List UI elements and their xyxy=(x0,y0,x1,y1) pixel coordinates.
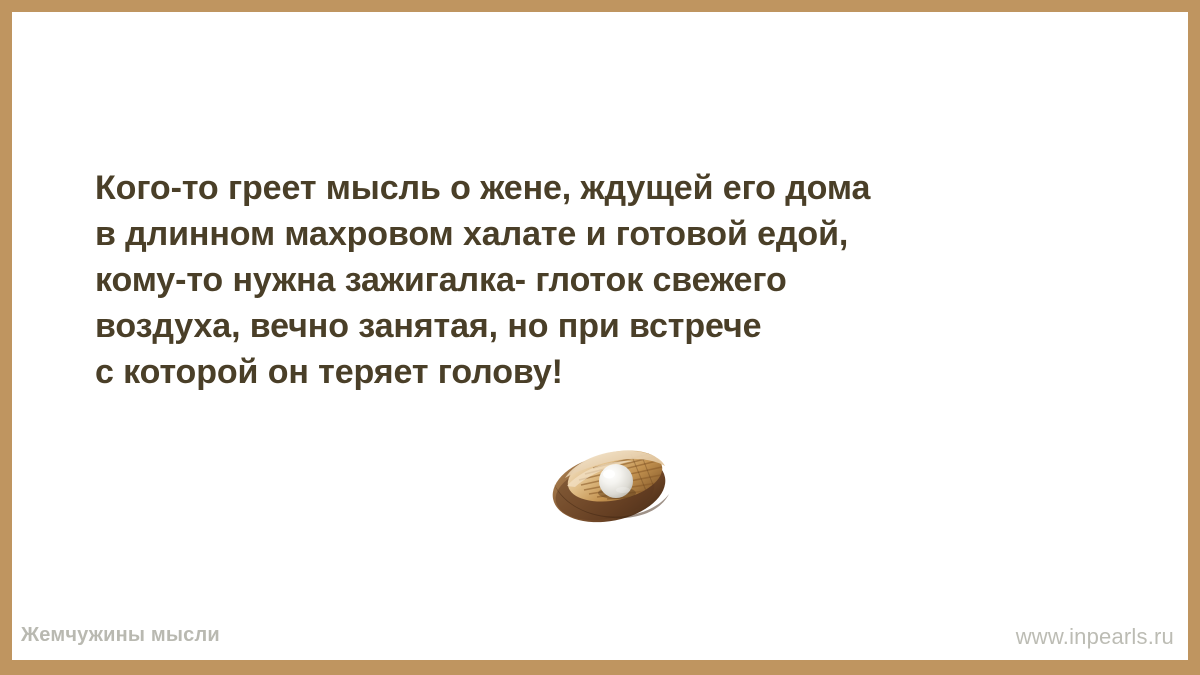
quote-text-block: Кого-то греет мысль о жене, ждущей его д… xyxy=(95,165,1125,395)
site-name-label: Жемчужины мысли xyxy=(21,624,220,647)
quote-line: в длинном махровом халате и готовой едой… xyxy=(95,211,1125,257)
quote-line: Кого-то греет мысль о жене, ждущей его д… xyxy=(95,165,1125,211)
quote-card: Кого-то греет мысль о жене, ждущей его д… xyxy=(0,0,1200,675)
quote-line: кому-то нужна зажигалка- глоток свежего xyxy=(95,257,1125,303)
site-url-label: www.inpearls.ru xyxy=(1016,624,1174,650)
oyster-shell-with-pearl-icon xyxy=(545,440,679,526)
quote-line: воздуха, вечно занятая, но при встрече xyxy=(95,303,1125,349)
card-inner: Кого-то греет мысль о жене, ждущей его д… xyxy=(12,12,1188,660)
quote-line: с которой он теряет голову! xyxy=(95,349,1125,395)
